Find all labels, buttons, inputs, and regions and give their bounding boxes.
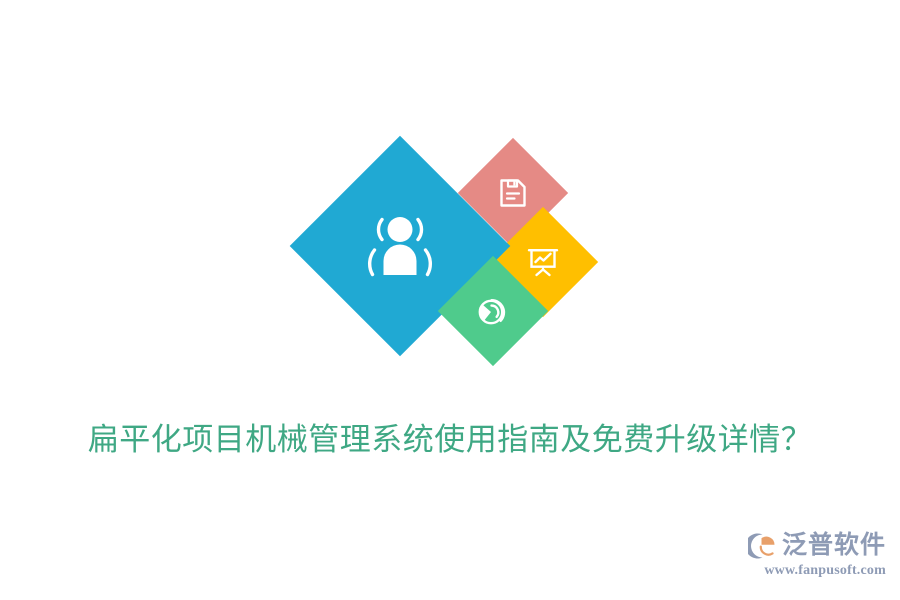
watermark: 泛普软件 www.fanpusoft.com — [746, 530, 886, 586]
fanpu-logo-icon — [748, 532, 778, 560]
watermark-brand-text: 泛普软件 — [782, 531, 886, 561]
pie-chart-icon — [476, 294, 510, 328]
user-group-icon — [363, 212, 437, 280]
diamond-cluster-graphic — [285, 125, 605, 380]
page-headline: 扁平化项目机械管理系统使用指南及免费升级详情？ — [0, 418, 900, 462]
save-document-icon — [497, 177, 529, 209]
diamond-quaternary — [438, 256, 548, 366]
page-canvas: 扁平化项目机械管理系统使用指南及免费升级详情？ 泛普软件 www.fanpuso… — [0, 0, 900, 600]
diamond-quaternary-glyph — [454, 272, 532, 350]
watermark-brand-row: 泛普软件 — [746, 530, 886, 562]
watermark-url-text: www.fanpusoft.com — [746, 563, 886, 579]
